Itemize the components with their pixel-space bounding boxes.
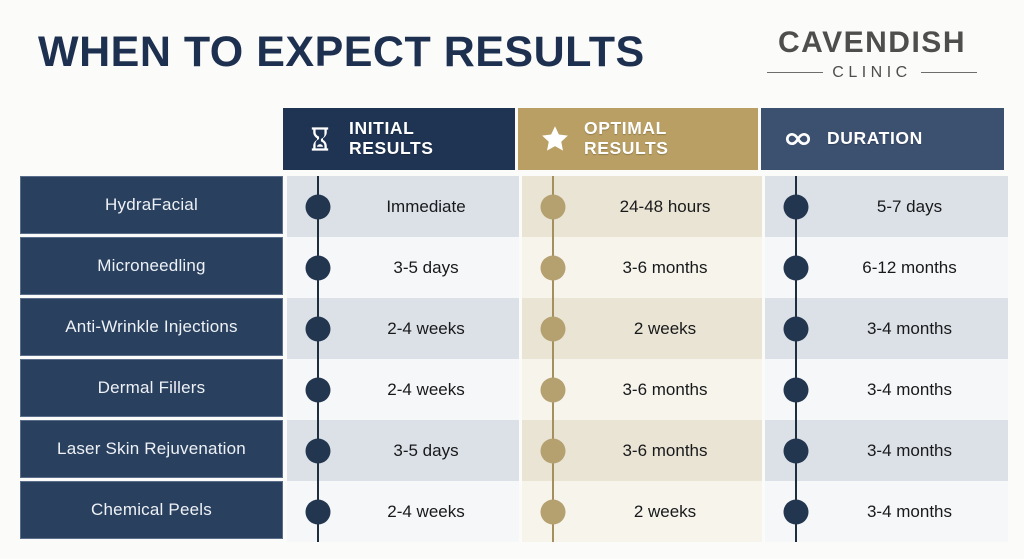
cell-duration: 3-4 months <box>765 298 1008 359</box>
table-header-row: INITIALRESULTS OPTIMALRESULTS DURATION <box>20 108 1004 170</box>
cell-initial-results: Immediate <box>287 176 519 237</box>
cell-initial-results: 2-4 weeks <box>287 298 519 359</box>
infinity-icon <box>783 124 813 154</box>
cell-optimal-results: 2 weeks <box>522 298 762 359</box>
cell-duration: 5-7 days <box>765 176 1008 237</box>
hourglass-icon <box>305 124 335 154</box>
cell-optimal-results: 3-6 months <box>522 420 762 481</box>
brand-rule-left <box>767 72 823 73</box>
row-label-treatment: Anti-Wrinkle Injections <box>20 298 283 356</box>
column-header-initial-results: INITIALRESULTS <box>283 108 515 170</box>
cell-value: 3-4 months <box>765 441 1008 461</box>
cell-initial-results: 3-5 days <box>287 237 519 298</box>
brand-subtitle-row: CLINIC <box>746 64 998 82</box>
column-header-duration-label: DURATION <box>827 129 923 149</box>
column-header-initial-results-label: INITIALRESULTS <box>349 119 434 158</box>
column-header-duration: DURATION <box>761 108 1004 170</box>
brand-subtitle: CLINIC <box>832 64 911 82</box>
cell-duration: 6-12 months <box>765 237 1008 298</box>
cell-value: 3-6 months <box>522 441 762 461</box>
cell-value: 3-5 days <box>287 258 519 278</box>
cell-optimal-results: 2 weeks <box>522 481 762 542</box>
cell-value: 3-6 months <box>522 380 762 400</box>
table-row: Dermal Fillers 2-4 weeks 3-6 months 3-4 … <box>20 359 1004 420</box>
cell-value: 3-4 months <box>765 319 1008 339</box>
cell-optimal-results: 3-6 months <box>522 359 762 420</box>
row-label-treatment: Chemical Peels <box>20 481 283 539</box>
cell-optimal-results: 24-48 hours <box>522 176 762 237</box>
cell-value: 3-4 months <box>765 380 1008 400</box>
column-header-optimal-results: OPTIMALRESULTS <box>518 108 758 170</box>
cell-value: 3-5 days <box>287 441 519 461</box>
cell-value: 6-12 months <box>765 258 1008 278</box>
cell-initial-results: 2-4 weeks <box>287 359 519 420</box>
cell-duration: 3-4 months <box>765 420 1008 481</box>
brand-logo: CAVENDISH CLINIC <box>746 27 998 82</box>
column-header-optimal-results-label: OPTIMALRESULTS <box>584 119 669 158</box>
row-label-treatment: HydraFacial <box>20 176 283 234</box>
cell-value: 24-48 hours <box>522 197 762 217</box>
row-label-treatment: Microneedling <box>20 237 283 295</box>
cell-value: Immediate <box>287 197 519 217</box>
brand-rule-right <box>921 72 977 73</box>
cell-optimal-results: 3-6 months <box>522 237 762 298</box>
page-title: WHEN TO EXPECT RESULTS <box>38 28 645 77</box>
cell-value: 2-4 weeks <box>287 502 519 522</box>
cell-value: 2 weeks <box>522 502 762 522</box>
row-label-treatment: Laser Skin Rejuvenation <box>20 420 283 478</box>
cell-value: 2-4 weeks <box>287 380 519 400</box>
table-row: Microneedling 3-5 days 3-6 months 6-12 m… <box>20 237 1004 298</box>
table-row: Laser Skin Rejuvenation 3-5 days 3-6 mon… <box>20 420 1004 481</box>
table-row: Chemical Peels 2-4 weeks 2 weeks 3-4 mon… <box>20 481 1004 542</box>
cell-initial-results: 3-5 days <box>287 420 519 481</box>
cell-duration: 3-4 months <box>765 481 1008 542</box>
row-label-treatment: Dermal Fillers <box>20 359 283 417</box>
results-timeline-table: INITIALRESULTS OPTIMALRESULTS DURATION H… <box>20 108 1004 542</box>
page-header: WHEN TO EXPECT RESULTS CAVENDISH CLINIC <box>0 0 1024 100</box>
star-icon <box>540 124 570 154</box>
cell-duration: 3-4 months <box>765 359 1008 420</box>
cell-value: 3-4 months <box>765 502 1008 522</box>
header-corner-spacer <box>20 108 283 170</box>
cell-value: 2-4 weeks <box>287 319 519 339</box>
cell-initial-results: 2-4 weeks <box>287 481 519 542</box>
table-row: Anti-Wrinkle Injections 2-4 weeks 2 week… <box>20 298 1004 359</box>
cell-value: 5-7 days <box>765 197 1008 217</box>
table-row: HydraFacial Immediate 24-48 hours 5-7 da… <box>20 176 1004 237</box>
brand-name: CAVENDISH <box>746 27 998 59</box>
cell-value: 2 weeks <box>522 319 762 339</box>
cell-value: 3-6 months <box>522 258 762 278</box>
